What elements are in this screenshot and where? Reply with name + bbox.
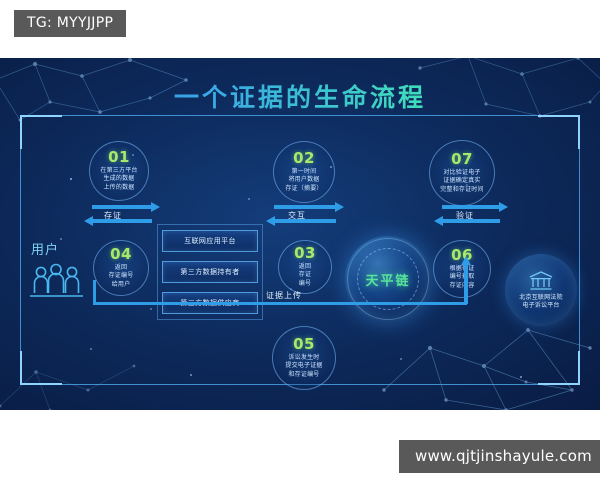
step-circle-07[interactable]: 07 对比验证电子 证据确定真实 完整和存证时间 — [429, 140, 495, 206]
step-number: 07 — [451, 152, 473, 167]
step-number: 05 — [293, 337, 315, 352]
flow-label-deposit: 存证 — [104, 210, 122, 221]
step-number: 04 — [110, 247, 132, 262]
step-caption: 对比验证电子 证据确定真实 完整和存证时间 — [435, 169, 488, 193]
step-caption: 第一时间 将用户数据 存证（摘要） — [280, 168, 327, 192]
court-building-icon — [528, 270, 554, 292]
step-circle-04[interactable]: 04 返回 存证编号 给用户 — [93, 240, 149, 296]
evidence-lifecycle-infographic: 一个证据的生命流程 用户 互联网应用平台 第三方数据持有者 — [0, 58, 600, 410]
screenshot-root: TG: MYYJJPP — [0, 0, 600, 480]
flow-label-interact: 交互 — [288, 210, 306, 221]
court-label: 北京互联网法院 电子诉讼平台 — [519, 294, 562, 311]
step-circle-03[interactable]: 03 返回 存证 编号 — [278, 240, 332, 294]
step-number: 02 — [293, 151, 315, 166]
step-circle-01[interactable]: 01 在第三方平台 生成的数据 上传的数据 — [89, 141, 149, 201]
platform-box-internet-app[interactable]: 互联网应用平台 — [162, 230, 258, 252]
arrow-chain-to-court — [442, 205, 500, 209]
flow-label-verify: 验证 — [456, 210, 474, 221]
step-caption: 返回 存证编号 给用户 — [104, 264, 139, 288]
arrow-upload-to-court — [464, 264, 468, 304]
user-label: 用户 — [31, 239, 59, 258]
flow-label-upload: 证据上传 — [266, 290, 302, 301]
step-number: 03 — [294, 246, 316, 261]
platform-box-group: 互联网应用平台 第三方数据持有者 第三方数据供应商 — [162, 230, 258, 323]
upload-path-user-drop — [93, 280, 96, 304]
chain-label: 天平链 — [365, 270, 410, 289]
tianping-chain-node[interactable]: 天平链 — [345, 236, 431, 322]
poster-title: 一个证据的生命流程 — [0, 78, 600, 114]
step-caption: 返回 存证 编号 — [294, 263, 316, 287]
people-icon — [28, 263, 86, 307]
step-circle-05[interactable]: 05 诉讼发生时 提交电子证据 和存证编号 — [272, 326, 336, 390]
step-caption: 诉讼发生时 提交电子证据 和存证编号 — [280, 354, 327, 378]
tg-handle-tag: TG: MYYJJPP — [14, 10, 126, 37]
step-caption: 在第三方平台 生成的数据 上传的数据 — [95, 167, 142, 191]
court-platform-node[interactable]: 北京互联网法院 电子诉讼平台 — [505, 254, 577, 326]
step-number: 01 — [108, 150, 130, 165]
site-watermark: www.qjtjinshayule.com — [399, 440, 600, 473]
arrow-platform-to-chain — [274, 205, 336, 209]
arrow-user-to-platform — [92, 205, 152, 209]
step-circle-02[interactable]: 02 第一时间 将用户数据 存证（摘要） — [273, 141, 335, 203]
step-circle-06[interactable]: 06 根据存证 编号获取 存证内容 — [433, 240, 491, 298]
platform-box-data-holder[interactable]: 第三方数据持有者 — [162, 261, 258, 283]
step-caption: 根据存证 编号获取 存证内容 — [445, 265, 480, 289]
upload-path-horizontal — [93, 302, 467, 305]
arrow-platform-to-user — [92, 219, 152, 223]
